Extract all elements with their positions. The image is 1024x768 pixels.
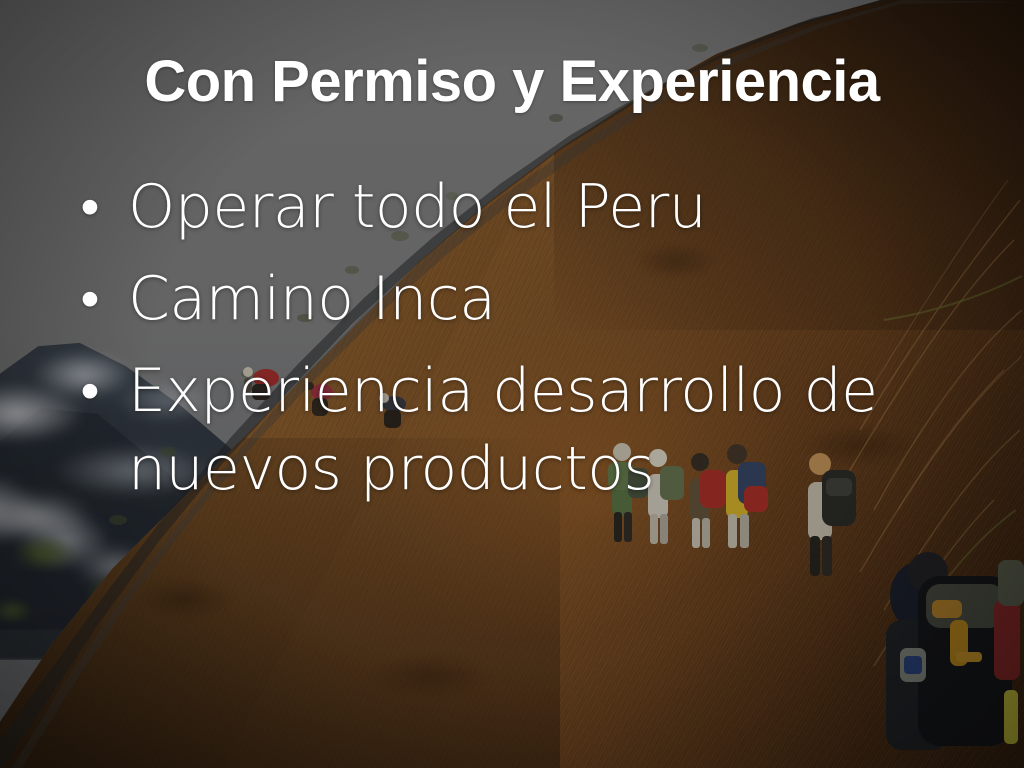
slide-title: Con Permiso y Experiencia (0, 52, 1024, 113)
bullet-point-icon: • (52, 352, 128, 430)
bullet-point-icon: • (52, 168, 128, 246)
bullet-item: • Experiencia desarrollo de nuevos produ… (52, 352, 984, 508)
bullet-item-label: Experiencia desarrollo de nuevos product… (128, 352, 984, 508)
presentation-slide: Con Permiso y Experiencia • Operar todo … (0, 0, 1024, 768)
bullet-point-icon: • (52, 260, 128, 338)
bullet-item-label: Camino Inca (128, 260, 496, 338)
bullet-list: • Operar todo el Peru • Camino Inca • Ex… (52, 168, 984, 522)
bullet-item: • Camino Inca (52, 260, 984, 338)
slide-content: Con Permiso y Experiencia • Operar todo … (0, 0, 1024, 768)
bullet-item-label: Operar todo el Peru (128, 168, 706, 246)
bullet-item: • Operar todo el Peru (52, 168, 984, 246)
